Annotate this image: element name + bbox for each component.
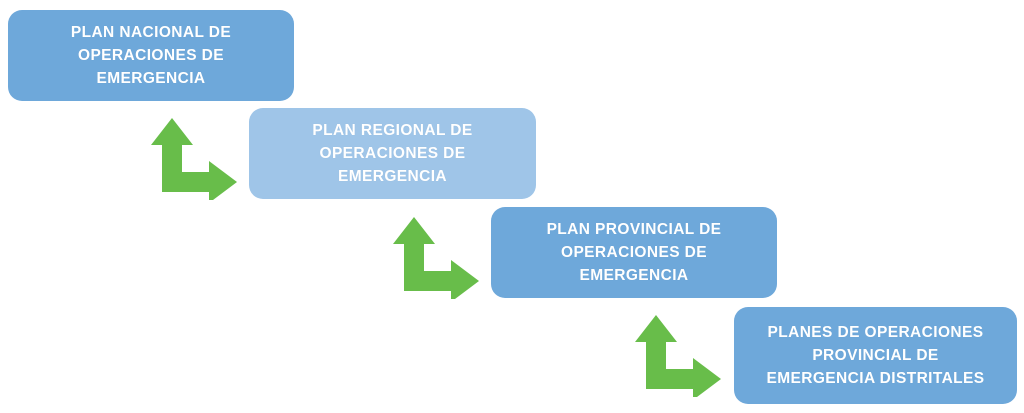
plan-box-provincial-label: PLAN PROVINCIAL DE OPERACIONES DE EMERGE… [547, 218, 722, 288]
plan-box-national-label: PLAN NACIONAL DE OPERACIONES DE EMERGENC… [71, 21, 231, 91]
plan-box-regional-label: PLAN REGIONAL DE OPERACIONES DE EMERGENC… [312, 119, 472, 189]
connector-provincial-to-districtal [632, 311, 728, 397]
emergency-plans-cascade-diagram: PLAN NACIONAL DE OPERACIONES DE EMERGENC… [0, 0, 1024, 413]
up-right-bidirectional-arrow-icon [393, 217, 479, 299]
plan-box-regional: PLAN REGIONAL DE OPERACIONES DE EMERGENC… [249, 108, 536, 199]
connector-national-to-regional [148, 114, 244, 200]
plan-box-national: PLAN NACIONAL DE OPERACIONES DE EMERGENC… [8, 10, 294, 101]
plan-box-districtal: PLANES DE OPERACIONES PROVINCIAL DE EMER… [734, 307, 1017, 404]
connector-regional-to-provincial [390, 213, 486, 299]
up-right-bidirectional-arrow-icon [635, 315, 721, 397]
up-right-bidirectional-arrow-icon [151, 118, 237, 200]
plan-box-provincial: PLAN PROVINCIAL DE OPERACIONES DE EMERGE… [491, 207, 777, 298]
plan-box-districtal-label: PLANES DE OPERACIONES PROVINCIAL DE EMER… [766, 321, 984, 391]
